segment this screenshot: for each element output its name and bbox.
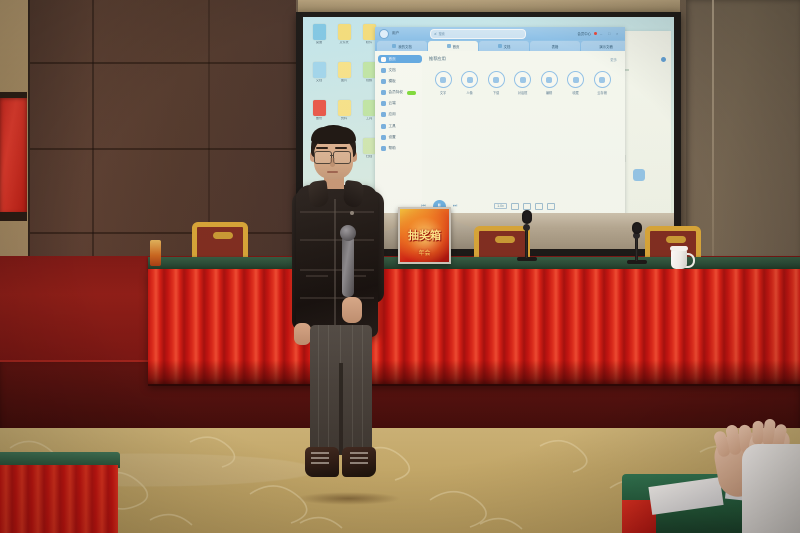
media-button[interactable] [535,203,543,210]
eyebrow [335,147,347,149]
folder-icon [313,24,326,40]
eyeglass-lens [333,151,351,164]
chat-icon [514,71,531,88]
home-icon [381,57,386,62]
feature-icon-row: 文字 人像 下载 对话框 [429,69,618,95]
heart-icon [567,71,584,88]
speed-chip[interactable]: 1.0x [494,203,506,209]
eyebrow [316,147,328,149]
conference-room-photo: 桌面 文件夹 软件 文档 图片 视频 [0,0,800,533]
next-button[interactable]: ⏭ [453,203,458,209]
folder-icon [363,100,376,116]
avatar[interactable] [379,29,389,39]
tab-documents[interactable]: 文档 [479,41,529,51]
template-icon [381,79,386,84]
feature-item[interactable]: 对话框 [511,71,535,95]
sidebar-item-cloud[interactable]: 云端 [378,100,422,108]
icon-label: 备份 [307,117,331,121]
sidebar-item-label: 首页 [389,57,396,62]
feature-label: 编辑 [537,90,561,95]
folder-icon [338,62,351,78]
sidebar-item-label: 应用 [389,112,396,117]
tab-presentation[interactable]: 演示文稿 [581,41,625,51]
folder-icon [338,100,351,116]
microphone-head [522,210,532,224]
feature-item[interactable]: 编辑 [537,71,561,95]
trouser-gap [339,363,343,455]
document-icon [381,68,386,73]
feature-item[interactable]: 云存储 [590,71,614,95]
sidebar-item-documents[interactable]: 文档 [378,66,422,74]
app-tab-bar: 我的文档 首页 文档 表格 演示文稿 立即登录 [375,40,625,51]
mug-lid [670,246,688,251]
tab-label: 我的文档 [398,44,412,49]
microphone-head [340,225,356,241]
icon-label: 图片 [332,79,356,83]
right-boot [342,447,376,477]
jacket-zipper [334,199,336,329]
icon-label: 桌面 [307,41,331,45]
banner-bottom-frame [0,212,27,221]
white-mug[interactable] [671,249,687,269]
handheld-microphone[interactable] [342,235,354,297]
section-heading: 推荐应用 [429,56,618,62]
tab-label: 首页 [453,44,460,49]
drink-cup[interactable] [150,240,161,266]
more-link[interactable]: 更多 [610,57,617,62]
sidebar-item-home[interactable]: 首页 [378,55,422,63]
media-button[interactable] [511,203,519,210]
jacket-pocket [306,275,328,277]
cloud-icon [594,71,611,88]
portrait-icon [461,71,478,88]
wall-seam [712,0,714,275]
icon-label: 文件夹 [332,41,356,45]
feature-label: 对话框 [511,90,535,95]
prize-sign-text: 抽奖箱 [408,230,441,242]
feature-label: 收藏 [564,90,588,95]
app-icon [313,62,326,78]
sidebar-item-label: 云端 [389,101,396,106]
jacket-logo [350,211,354,215]
feature-item[interactable]: 文字 [431,71,455,95]
feature-label: 人像 [458,90,482,95]
app-title-bar: 用户 ☌ 搜索 会员中心 – □ × [375,27,625,40]
microphone-head [632,222,642,234]
table-microphone[interactable] [514,210,540,262]
tab-sheets[interactable]: 表格 [530,41,580,51]
file-icon [498,44,502,48]
folder-icon [363,62,376,78]
tab-home[interactable]: 首页 [428,41,478,51]
tab-label: 表格 [552,44,559,49]
cloud-icon [381,101,386,106]
hair-fringe [311,127,356,144]
tab-my-documents[interactable]: 我的文档 [377,41,427,51]
icon-label: 文档 [307,79,331,83]
wood-wall-panel [26,0,296,300]
left-boot [305,447,339,477]
nose [330,158,335,167]
feature-label: 云存储 [590,90,614,95]
desktop-icon[interactable]: 文档 [307,61,331,98]
apps-icon [381,112,386,117]
search-icon: ☌ [434,32,436,36]
feature-item[interactable]: 人像 [458,71,482,95]
desktop-icon[interactable]: 桌面 [307,23,331,60]
black-puffer-jacket [296,185,378,337]
tab-label: 文档 [504,44,511,49]
tab-label: 演示文稿 [599,44,613,49]
search-placeholder: 搜索 [438,31,444,36]
window-label: 会员中心 [577,31,591,36]
document-icon [392,44,396,48]
table-shadow [148,360,800,386]
sidebar-item-membership[interactable]: 会员特权 [378,89,422,97]
red-wall-banner [0,98,27,214]
audience-white-sleeve [742,444,800,533]
sidebar-item-label: 会员特权 [389,90,403,95]
table-microphone[interactable] [625,222,649,264]
feature-label: 下载 [484,90,508,95]
edit-icon [541,71,558,88]
feature-label: 文字 [431,90,455,95]
sidebar-item-templates[interactable]: 模板 [378,77,422,85]
document-icon [435,71,452,88]
desktop-icon[interactable]: 图片 [332,61,356,98]
desktop-icon[interactable]: 文件夹 [332,23,356,60]
right-hand [342,297,362,323]
download-icon [488,71,505,88]
feature-item[interactable]: 收藏 [564,71,588,95]
eyeglass-bridge [330,155,334,156]
maximize-button[interactable]: □ [608,31,613,36]
close-button[interactable]: × [616,31,621,36]
media-button[interactable] [523,203,531,210]
minimize-button[interactable]: – [600,31,605,36]
notification-dot [594,32,597,35]
home-icon [447,44,451,48]
media-button[interactable] [547,203,555,210]
floating-action-button[interactable] [633,169,645,181]
sidebar-item-apps[interactable]: 应用 [378,111,422,119]
right-wall-panel [686,0,800,292]
folder-icon [338,24,351,40]
crown-icon [381,90,386,95]
icon-label: 资料 [332,117,356,121]
feature-item[interactable]: 下载 [484,71,508,95]
window-controls: 会员中心 – □ × [577,31,621,36]
folder-icon [363,24,376,40]
status-badge [407,91,416,95]
search-input[interactable]: ☌ 搜索 [430,29,526,39]
sidebar-item-label: 模板 [389,79,396,84]
side-table-skirt [0,465,118,533]
panel-indicator-dot [661,57,666,62]
left-hand [294,323,311,345]
speaker[interactable] [286,125,408,500]
app-icon [313,100,326,116]
media-right-controls: 1.0x [494,203,554,210]
user-name: 用户 [392,31,399,36]
sidebar-item-label: 文档 [389,68,396,73]
